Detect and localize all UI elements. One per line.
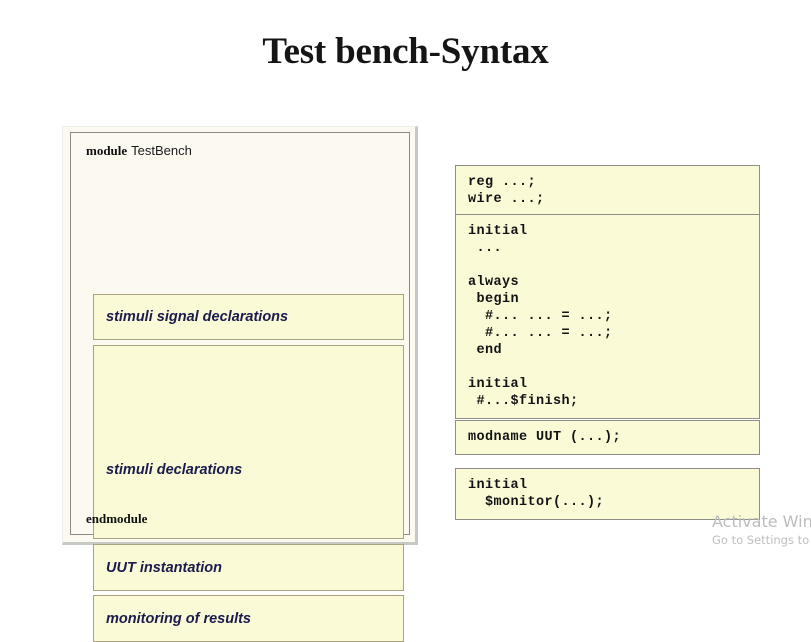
- page-title: Test bench-Syntax: [0, 32, 811, 73]
- activation-subtitle: Go to Settings to a: [712, 533, 811, 548]
- code-line: #...$finish;: [468, 393, 759, 410]
- slot-stimuli-signal-declarations[interactable]: stimuli signal declarations: [93, 294, 404, 340]
- code-line: begin: [468, 291, 759, 308]
- code-line: #... ... = ...;: [468, 308, 759, 325]
- slot-monitoring-of-results[interactable]: monitoring of results: [93, 595, 404, 642]
- slot-label: stimuli signal declarations: [94, 309, 288, 325]
- code-line: reg ...;: [468, 174, 759, 191]
- code-line: ...: [468, 240, 759, 257]
- testbench-module-frame: moduleTestBench stimuli signal declarati…: [70, 132, 410, 535]
- endmodule-keyword: endmodule: [86, 511, 147, 527]
- code-line: initial: [468, 477, 759, 494]
- code-line: initial: [468, 376, 759, 393]
- code-line-blank: [468, 359, 759, 376]
- code-line: initial: [468, 223, 759, 240]
- slot-label: stimuli declarations: [94, 462, 242, 478]
- testbench-structure-panel: moduleTestBench stimuli signal declarati…: [62, 126, 418, 545]
- code-box-declarations[interactable]: reg ...; wire ...;: [455, 165, 760, 217]
- module-keyword: module: [86, 143, 127, 158]
- code-box-uut-instantiation[interactable]: modname UUT (...);: [455, 420, 760, 455]
- code-box-procedural-blocks[interactable]: initial ... always begin #... ... = ...;…: [455, 214, 760, 419]
- code-line-blank: [468, 257, 759, 274]
- slide-canvas: Test bench-Syntax moduleTestBench stimul…: [0, 0, 811, 608]
- slot-uut-instantiation[interactable]: UUT instantation: [93, 544, 404, 591]
- slot-stimuli-declarations[interactable]: stimuli declarations: [93, 345, 404, 539]
- code-line: always: [468, 274, 759, 291]
- slot-label: monitoring of results: [94, 611, 251, 627]
- code-line: $monitor(...);: [468, 494, 759, 511]
- code-line: end: [468, 342, 759, 359]
- code-box-monitoring[interactable]: initial $monitor(...);: [455, 468, 760, 520]
- code-line: wire ...;: [468, 191, 759, 208]
- module-header: moduleTestBench: [83, 143, 397, 161]
- code-line: #... ... = ...;: [468, 325, 759, 342]
- slot-label: UUT instantation: [94, 560, 222, 576]
- module-name: TestBench: [131, 143, 192, 158]
- code-line: modname UUT (...);: [468, 429, 759, 446]
